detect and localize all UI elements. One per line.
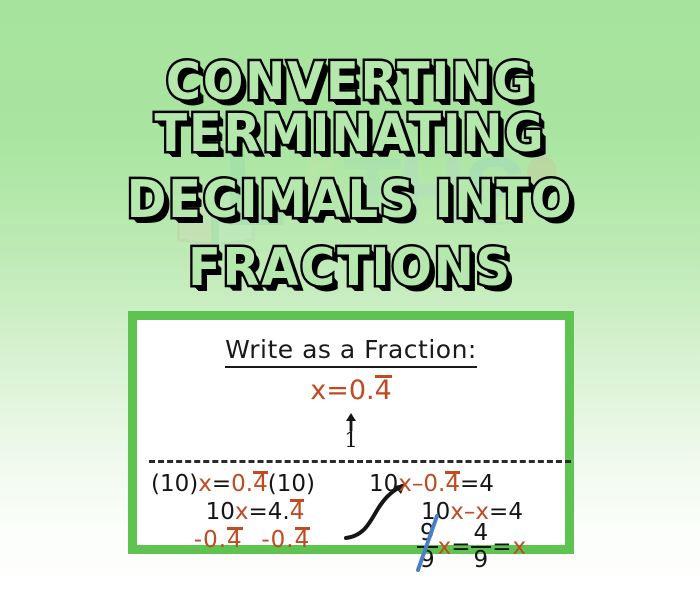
worksheet-heading-text: Write as a Fraction:	[225, 335, 477, 368]
left-rep-a: 4	[227, 527, 243, 552]
right-row-1: 10x–0.4=4	[369, 470, 569, 498]
right-row-3: 9 9 x = 4 9 = x	[417, 522, 526, 572]
worksheet-canvas: Write as a Fraction: x=0.4 1 (10)x=0.4(1…	[137, 320, 565, 545]
right-equals-3a: =	[451, 533, 470, 561]
fraction-right-denominator: 9	[471, 549, 492, 572]
right-decimal-1: 0.	[423, 471, 445, 497]
book-page-left	[177, 183, 219, 247]
watermark-letter-l: L	[223, 138, 287, 242]
final-answer-x: x	[512, 533, 526, 561]
slide-root: { "title": { "line1": "CONVERTING TERMIN…	[0, 0, 700, 600]
equation-x: x	[310, 375, 326, 406]
left-ten-2: 10	[206, 499, 235, 525]
right-repeating-1: 4	[445, 471, 460, 496]
right-minus-1: –	[412, 471, 424, 497]
book-icon	[177, 152, 255, 244]
left-minus-a: -0.	[194, 527, 227, 553]
trademark-symbol: TM	[523, 136, 542, 151]
main-equation: x=0.4	[137, 375, 565, 406]
left-row-2: 10x=4.4	[147, 498, 357, 526]
watermark-logo: L ATHS TM Learning	[165, 130, 565, 280]
right-column: 10x–0.4=4 10x–x=4 9 9 x = 4	[369, 470, 569, 526]
watermark-letter-s: S	[463, 138, 523, 245]
logo-triangle-shape	[495, 192, 531, 222]
page-title: CONVERTING TERMINATING DECIMALS INTO FRA…	[0, 56, 700, 308]
watermark-letter-h: H	[398, 138, 463, 245]
fraction-left: 9 9	[417, 522, 438, 572]
fraction-right: 4 9	[471, 522, 492, 572]
left-equals-1: =	[212, 471, 231, 497]
watermark-tagline: Learning	[363, 248, 422, 266]
left-minus-b: -0.	[261, 527, 294, 553]
book-page-right	[213, 183, 255, 247]
right-result-1: 4	[479, 471, 494, 497]
fraction-left-variable: x	[438, 533, 452, 561]
equation-decimal: 0.	[349, 375, 375, 406]
title-line-3: FRACTIONS	[28, 242, 672, 294]
left-close-paren-10: (10)	[268, 471, 315, 497]
title-line-1: CONVERTING TERMINATING	[28, 56, 672, 160]
left-open-paren-10: (10)	[151, 471, 198, 497]
fraction-right-numerator: 4	[471, 522, 492, 545]
left-rep-b: 4	[295, 527, 311, 552]
dashed-divider	[149, 460, 571, 463]
equation-repeating-digit: 4	[375, 375, 392, 404]
left-x-2: x	[235, 499, 249, 525]
left-row-3: -0.4 -0.4	[147, 526, 357, 554]
logo-circle-shape	[527, 156, 557, 186]
example-image-panel: Write as a Fraction: x=0.4 1 (10)x=0.4(1…	[128, 311, 574, 554]
left-repeating-1: 4	[253, 471, 268, 496]
denominator-hint: 1	[137, 428, 565, 452]
fraction-left-numerator: 9	[417, 522, 438, 545]
left-decimal-1: 0.	[231, 471, 253, 497]
right-equals-3b: =	[491, 533, 512, 561]
left-row-1: (10)x=0.4(10)	[147, 470, 357, 498]
fraction-left-denominator: 9	[417, 549, 438, 572]
watermark-wordmark: ATHS	[285, 144, 523, 240]
equation-equals: =	[326, 375, 349, 406]
left-column: (10)x=0.4(10) 10x=4.4 -0.4 -0.4	[147, 470, 357, 554]
right-equals-1: =	[460, 471, 479, 497]
book-spine	[211, 186, 219, 244]
watermark-letter-t: T	[343, 138, 398, 245]
left-x-1: x	[198, 471, 212, 497]
left-equals-2: =	[249, 499, 268, 525]
right-x-1: x	[398, 471, 412, 497]
watermark-letter-a: A	[285, 138, 343, 245]
left-repeating-2: 4	[290, 499, 305, 524]
left-four-dot-2: 4.	[268, 499, 290, 525]
worksheet-heading: Write as a Fraction:	[137, 335, 565, 364]
title-line-2: DECIMALS INTO	[28, 174, 672, 226]
right-ten-1: 10	[369, 471, 398, 497]
